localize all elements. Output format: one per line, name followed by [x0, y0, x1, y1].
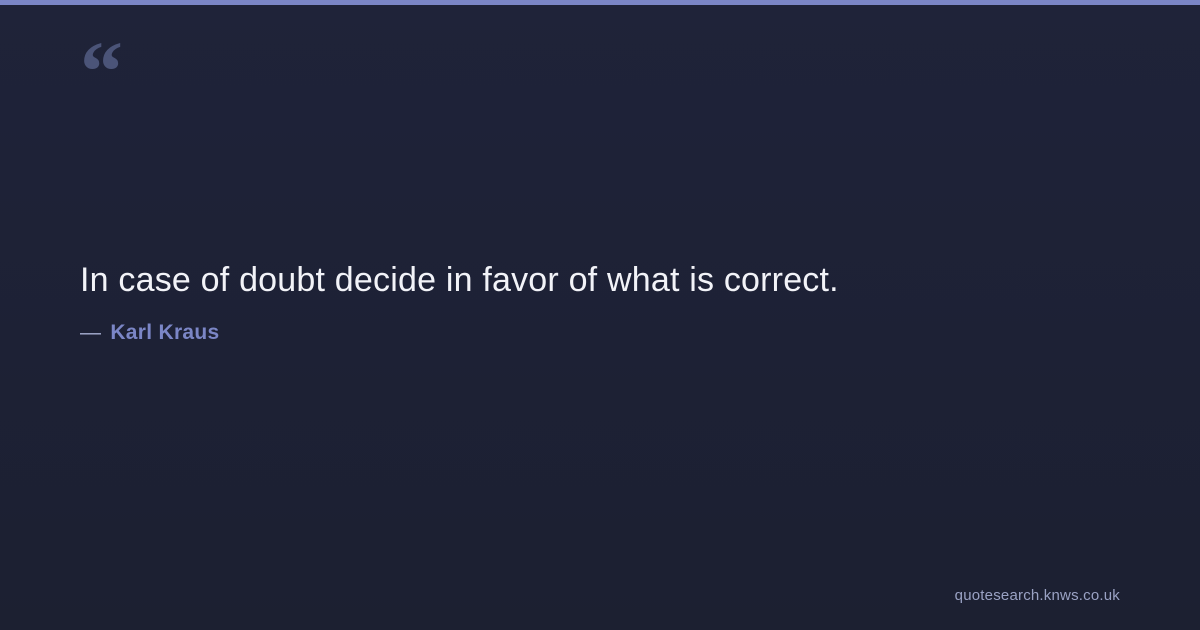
author-name: Karl Kraus — [110, 321, 219, 345]
top-accent-bar — [0, 0, 1200, 5]
site-watermark: quotesearch.knws.co.uk — [955, 587, 1120, 604]
quote-text: In case of doubt decide in favor of what… — [80, 258, 1120, 304]
quote-attribution: — Karl Kraus — [80, 321, 220, 345]
quote-card: “ In case of doubt decide in favor of wh… — [0, 0, 1200, 630]
attribution-dash: — — [80, 321, 101, 345]
quotation-mark-icon: “ — [80, 28, 121, 114]
